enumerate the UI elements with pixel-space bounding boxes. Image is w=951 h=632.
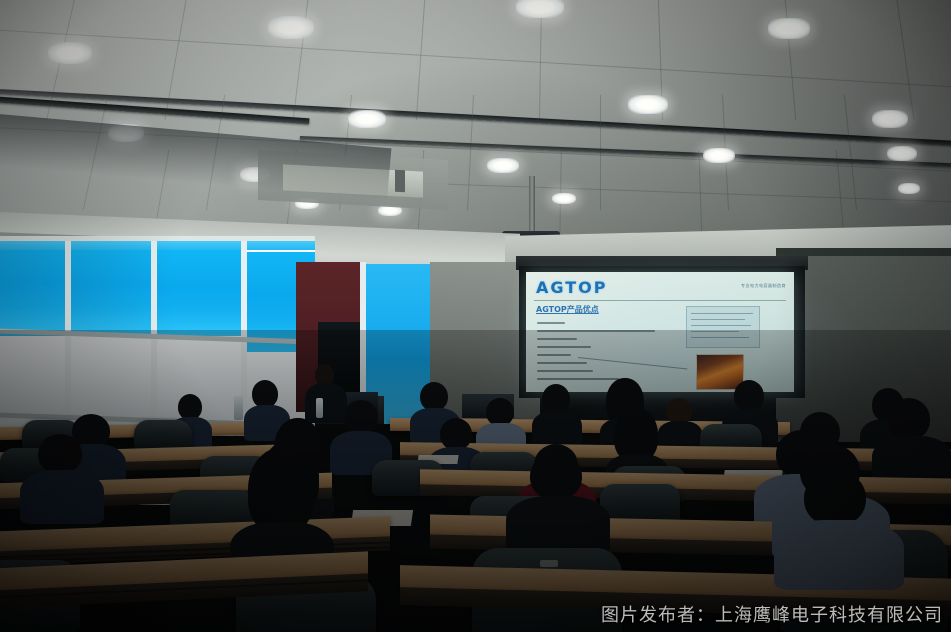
water-bottle — [234, 396, 243, 420]
slide-bullet-line — [537, 354, 571, 356]
attendee-head — [734, 380, 764, 412]
slide-data-table — [686, 306, 760, 348]
window-head-rail — [0, 236, 315, 241]
ceiling-light — [268, 16, 314, 39]
slide-bullet-line — [537, 346, 591, 348]
ceiling-light — [48, 42, 92, 64]
attendee-torso — [774, 520, 904, 590]
ceiling-light — [628, 95, 668, 114]
table-row — [691, 337, 749, 338]
attendee-head — [252, 380, 278, 408]
ceiling-light — [487, 158, 519, 173]
table-row — [691, 313, 753, 314]
attendee-head — [542, 384, 570, 414]
attendee-head — [38, 434, 82, 474]
window-blind[interactable] — [71, 243, 153, 335]
slide-logo: AGTOP — [536, 278, 607, 297]
ceiling-light — [552, 193, 576, 204]
ceiling-light — [872, 110, 908, 128]
slide-bullet-line — [537, 378, 619, 380]
attendee-head — [486, 398, 514, 426]
projector-mount-pole — [529, 176, 535, 232]
ceiling-light — [768, 18, 810, 39]
photograph-canvas: AGTOP 专业电力电容器制造商 AGTOP产品优点 — [0, 0, 951, 632]
slide-header-rule — [534, 300, 786, 301]
attendee-head — [420, 382, 448, 411]
chair-label-tag — [540, 560, 558, 567]
ceiling-air-vent-slot — [395, 170, 405, 193]
table-row — [691, 319, 745, 320]
window-blind[interactable] — [157, 248, 243, 336]
slide-bullet-line — [537, 338, 577, 340]
attendee-head — [804, 470, 866, 526]
attendee-torso — [506, 496, 610, 556]
slide-bullet-line — [537, 322, 565, 324]
water-bottle — [316, 398, 323, 418]
attendee-head — [440, 418, 472, 450]
ceiling-light — [703, 148, 735, 163]
ceiling-light — [887, 146, 917, 161]
slide-bullet-line — [537, 370, 593, 372]
presenter-torso — [305, 383, 347, 423]
slide-header-right: 专业电力电容器制造商 — [741, 283, 786, 289]
ceiling-light — [348, 110, 386, 128]
ceiling-light — [898, 183, 920, 194]
table-row — [691, 331, 739, 332]
attendee-head — [888, 398, 930, 440]
slide-callout-leader — [578, 357, 688, 369]
attendee-torso — [20, 470, 104, 524]
window-blind[interactable] — [0, 240, 67, 336]
presentation-slide: AGTOP 专业电力电容器制造商 AGTOP产品优点 — [526, 272, 794, 392]
right-wall-top-trim — [776, 248, 951, 256]
attendee-head — [530, 452, 582, 500]
slide-bullet-line — [537, 362, 587, 364]
slide-bullet-line — [537, 330, 655, 332]
table-row — [691, 325, 751, 326]
slide-title: AGTOP产品优点 — [536, 304, 599, 315]
projection-screen: AGTOP 专业电力电容器制造商 AGTOP产品优点 — [526, 272, 794, 392]
ceiling-light — [516, 0, 564, 18]
attendee-head — [344, 400, 378, 434]
chair[interactable] — [134, 420, 192, 450]
attendee-torso — [532, 411, 582, 447]
watermark-caption: 图片发布者：上海鹰峰电子科技有限公司 — [601, 604, 943, 628]
